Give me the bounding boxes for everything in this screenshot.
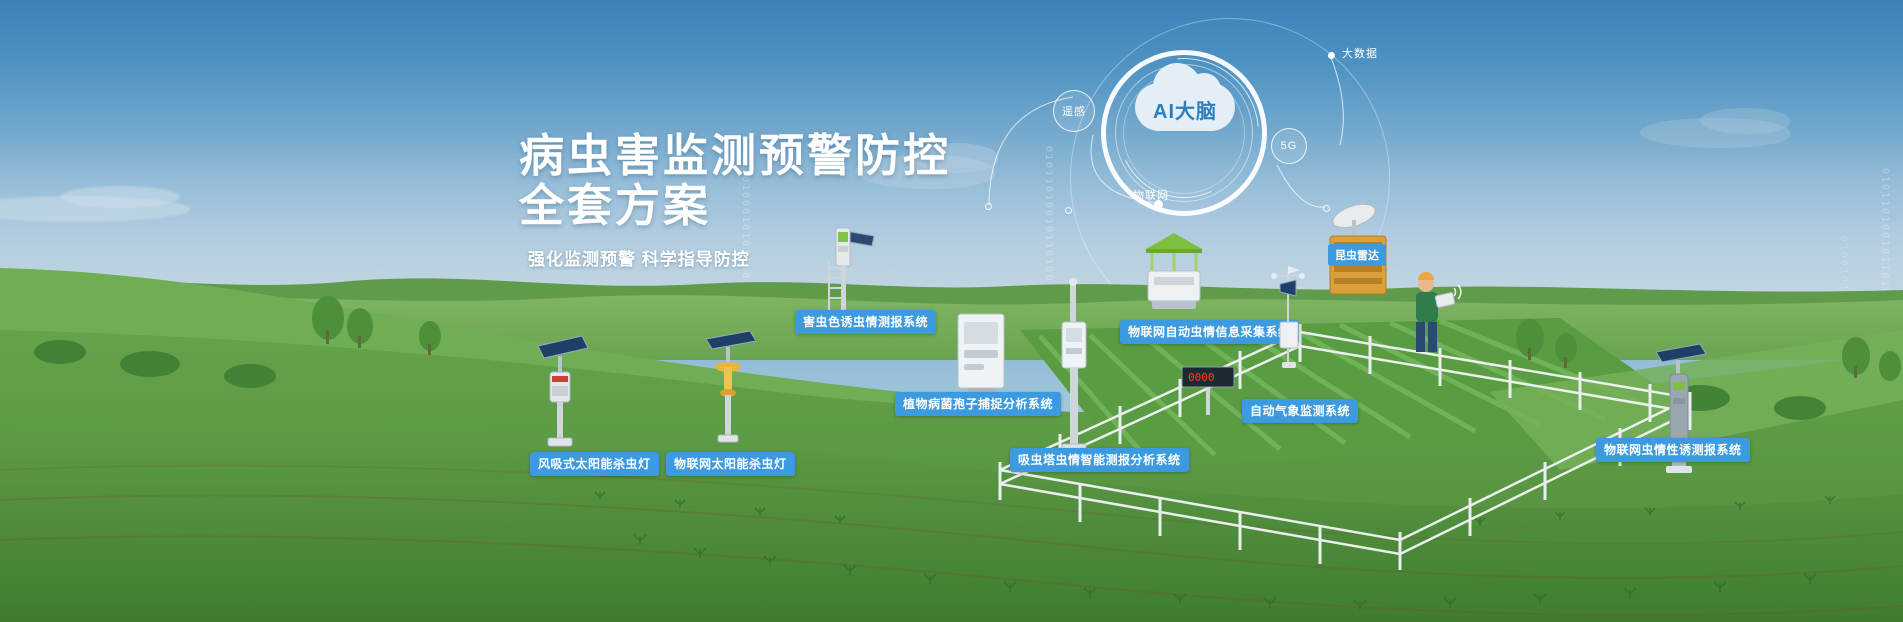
device-iot-auto-pest-collection[interactable] (1128, 225, 1228, 315)
label-spore-capture-analysis[interactable]: 植物病菌孢子捕捉分析系统 (895, 392, 1061, 416)
label-auto-weather-monitor[interactable]: 自动气象监测系统 (1242, 399, 1358, 423)
iot-solar-lamp-icon (700, 325, 780, 455)
ai-core-label: AI大脑 (1137, 95, 1233, 124)
color-lure-icon (800, 222, 890, 322)
svg-text:0000: 0000 (1188, 371, 1215, 384)
spore-capture-icon (948, 308, 1028, 403)
field-worker (1400, 272, 1460, 352)
iot-pest-collection-icon (1128, 225, 1238, 320)
worker-icon (1400, 272, 1464, 356)
device-color-lure-pest-forecast[interactable] (800, 222, 880, 322)
led-display-board[interactable]: 0000 (1180, 365, 1236, 415)
label-iot-sex-lure-forecast[interactable]: 物联网虫情性诱测报系统 (1596, 438, 1750, 462)
device-wind-solar-insect-lamp[interactable] (530, 330, 600, 460)
suction-tower-icon (1052, 278, 1112, 463)
label-insect-radar[interactable]: 昆虫雷达 (1328, 244, 1386, 266)
led-board-icon: 0000 (1180, 365, 1240, 420)
device-spore-capture-analysis[interactable] (948, 308, 1018, 398)
device-iot-solar-insect-lamp[interactable] (700, 325, 770, 455)
wind-solar-lamp-icon (530, 330, 610, 460)
label-suction-tower-forecast[interactable]: 吸虫塔虫情智能测报分析系统 (1010, 448, 1189, 472)
label-wind-solar-insect-lamp[interactable]: 风吸式太阳能杀虫灯 (530, 452, 659, 476)
label-color-lure-pest-forecast[interactable]: 害虫色诱虫情测报系统 (795, 310, 936, 334)
label-iot-solar-insect-lamp[interactable]: 物联网太阳能杀虫灯 (666, 452, 795, 476)
hero-banner: 0100010101100101001010 01011010010110100… (0, 0, 1903, 622)
device-suction-tower-forecast[interactable] (1052, 278, 1102, 458)
